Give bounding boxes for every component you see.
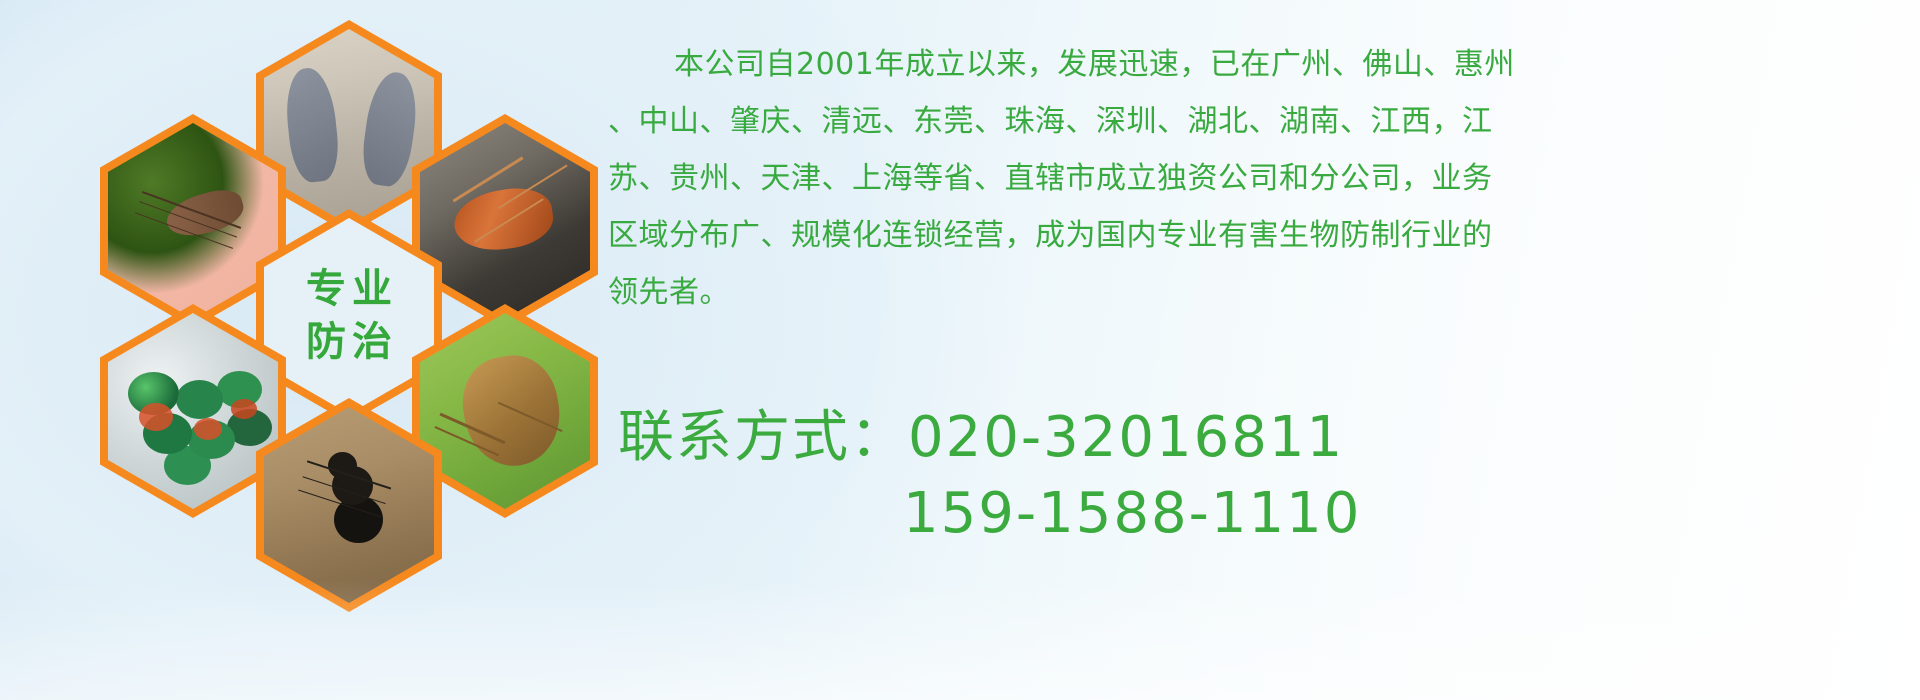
intro-line-2: 、中山、肇庆、清远、东莞、珠海、深圳、湖北、湖南、江西，江 [608, 93, 1903, 150]
intro-line-5: 领先者。 [608, 264, 1903, 321]
intro-line-1: 本公司自2001年成立以来，发展迅速，已在广州、佛山、惠州 [608, 36, 1903, 93]
ant-photo [264, 407, 434, 603]
contact-phone-secondary[interactable]: 159-1588-1110 [618, 476, 1908, 552]
rats-photo [264, 29, 434, 225]
content-column: 本公司自2001年成立以来，发展迅速，已在广州、佛山、惠州 、中山、肇庆、清远、… [608, 0, 1908, 700]
logo-text-line1: 专业 [300, 266, 398, 313]
company-intro-paragraph: 本公司自2001年成立以来，发展迅速，已在广州、佛山、惠州 、中山、肇庆、清远、… [608, 36, 1903, 321]
mosquito-photo [108, 123, 278, 319]
intro-line-4: 区域分布广、规模化连锁经营，成为国内专业有害生物防制行业的 [608, 207, 1903, 264]
contact-block: 联系方式：020-32016811 159-1588-1110 [618, 400, 1908, 552]
flies-photo [108, 313, 278, 509]
cockroach-photo [420, 123, 590, 319]
contact-phone-primary[interactable]: 联系方式：020-32016811 [618, 400, 1908, 476]
stink-bug-photo [420, 313, 590, 509]
intro-line-3: 苏、贵州、天津、上海等省、直辖市成立独资公司和分公司，业务 [608, 150, 1903, 207]
logo-text-line2: 防治 [300, 319, 398, 366]
promo-banner: 专业 防治 本公司自2001年成立以来，发展迅速，已在广州、佛山、惠州 、中山、… [0, 0, 1920, 700]
hexagon-photo-cluster: 专业 防治 [86, 4, 586, 564]
